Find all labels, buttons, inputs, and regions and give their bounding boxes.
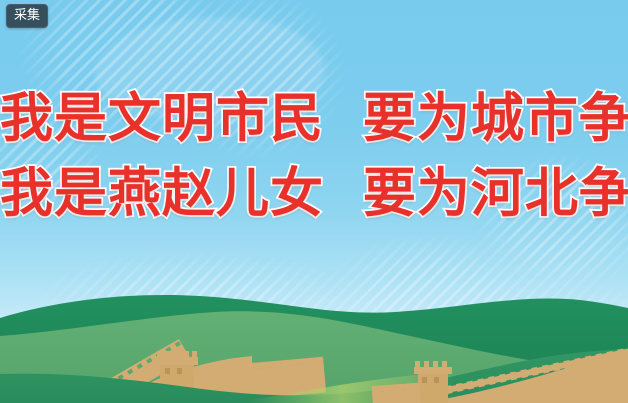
landscape-illustration xyxy=(0,0,628,403)
poster-banner: 我是文明市民 要为城市争光 我是燕赵儿女 要为河北争气 采集 xyxy=(0,0,628,403)
capture-button[interactable]: 采集 xyxy=(6,4,48,28)
